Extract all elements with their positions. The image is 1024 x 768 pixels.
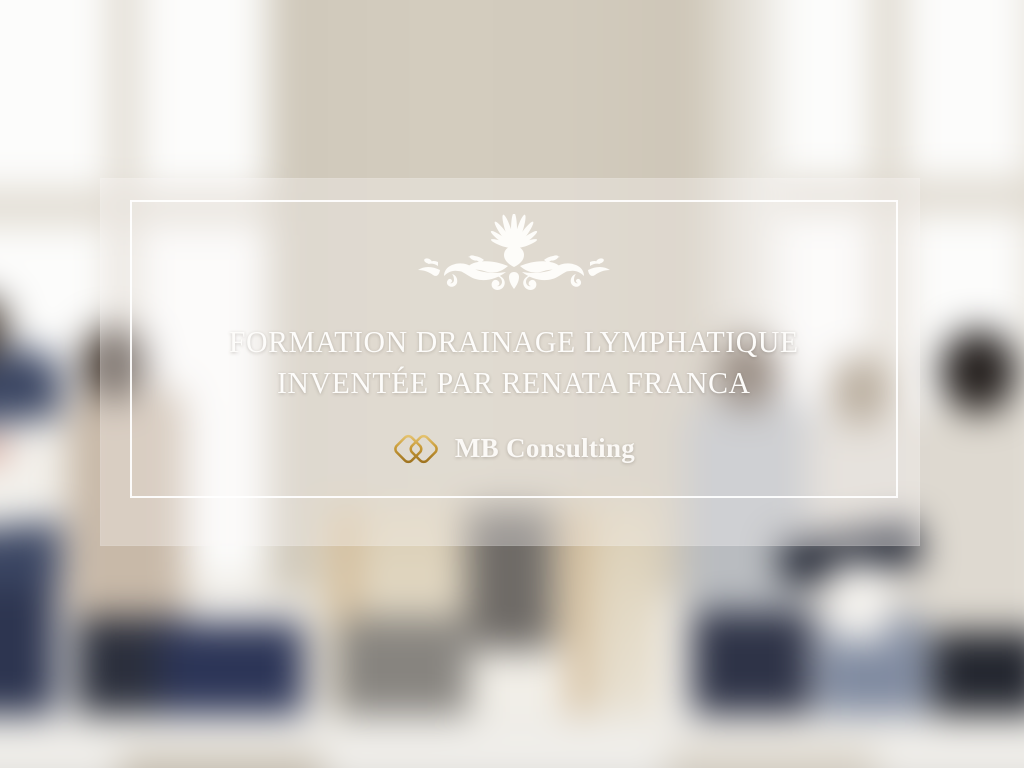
title-line-1: FORMATION DRAINAGE LYMPHATIQUE (229, 322, 799, 363)
victorian-flourish-ornament (404, 214, 624, 298)
paper-sheet (826, 560, 894, 644)
poster-title: FORMATION DRAINAGE LYMPHATIQUE INVENTÉE … (229, 322, 799, 404)
poster-content: FORMATION DRAINAGE LYMPHATIQUE INVENTÉE … (130, 200, 898, 498)
title-line-2: INVENTÉE PAR RENATA FRANCA (229, 363, 799, 404)
chair-foreground-right (666, 745, 877, 768)
brand-lockup: MB Consulting (393, 426, 635, 472)
poster-canvas: FORMATION DRAINAGE LYMPHATIQUE INVENTÉE … (0, 0, 1024, 768)
chair-foreground-left (119, 752, 324, 768)
interlocking-diamonds-logo (393, 426, 439, 472)
brand-name: MB Consulting (455, 433, 635, 464)
